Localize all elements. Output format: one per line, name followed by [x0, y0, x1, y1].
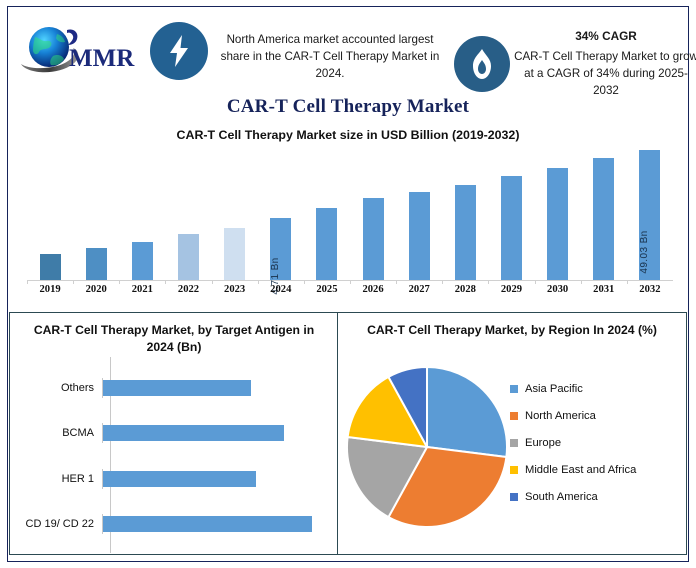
- market-size-bar-slot: [350, 148, 396, 280]
- region-legend-label: Asia Pacific: [525, 383, 583, 395]
- cagr-description: CAR-T Cell Therapy Market to grow at a C…: [514, 50, 696, 97]
- region-pie-chart: [344, 361, 510, 533]
- target-antigen-bar: [103, 516, 312, 532]
- region-legend-item: South America: [510, 483, 684, 510]
- region-legend: Asia PacificNorth AmericaEuropeMiddle Ea…: [510, 375, 684, 510]
- market-size-x-tick: 2027: [396, 284, 442, 295]
- region-legend-item: Asia Pacific: [510, 375, 684, 402]
- market-size-bar-slot: [581, 148, 627, 280]
- market-size-bar: [409, 192, 430, 280]
- target-antigen-panel: CAR-T Cell Therapy Market, by Target Ant…: [9, 312, 339, 555]
- market-size-x-tick: 2025: [304, 284, 350, 295]
- market-size-bar: [132, 242, 153, 280]
- region-legend-label: Middle East and Africa: [525, 464, 636, 476]
- market-size-bar-slot: [165, 148, 211, 280]
- target-antigen-category-label: Others: [10, 382, 102, 394]
- target-antigen-track: [102, 469, 338, 489]
- market-size-bar-chart: CAR-T Cell Therapy Market size in USD Bi…: [9, 126, 687, 306]
- market-size-bar-slot: [442, 148, 488, 280]
- market-size-bar: [178, 234, 199, 280]
- target-antigen-row: Others: [10, 378, 338, 398]
- market-size-bar-slot: [396, 148, 442, 280]
- market-size-bar-slot: 4.71 Bn: [258, 148, 304, 280]
- target-antigen-row: BCMA: [10, 423, 338, 443]
- target-antigen-category-label: BCMA: [10, 427, 102, 439]
- market-size-bar-slot: 49.03 Bn: [627, 148, 673, 280]
- market-size-bar-slot: [212, 148, 258, 280]
- market-size-plot-area: 4.71 Bn49.03 Bn: [27, 148, 673, 281]
- region-legend-swatch: [510, 412, 518, 420]
- region-legend-label: North America: [525, 410, 596, 422]
- lightning-bolt-badge: [150, 22, 208, 80]
- target-antigen-category-label: CD 19/ CD 22: [10, 518, 102, 530]
- region-legend-swatch: [510, 493, 518, 501]
- logo-text: MMR: [69, 45, 135, 72]
- market-size-bar: [86, 248, 107, 280]
- market-size-x-tick: 2032: [627, 284, 673, 295]
- market-size-bar: 4.71 Bn: [270, 218, 291, 280]
- market-size-chart-title: CAR-T Cell Therapy Market size in USD Bi…: [9, 128, 687, 142]
- region-panel: CAR-T Cell Therapy Market, by Region In …: [337, 312, 687, 555]
- target-antigen-track: [102, 378, 338, 398]
- market-size-bar: [455, 185, 476, 280]
- market-size-bar-value-label: 49.03 Bn: [639, 230, 650, 273]
- market-size-x-tick: 2023: [212, 284, 258, 295]
- region-legend-item: North America: [510, 402, 684, 429]
- market-size-bar-slot: [119, 148, 165, 280]
- market-size-x-tick: 2030: [535, 284, 581, 295]
- region-pie-slice: [427, 367, 507, 457]
- region-legend-item: Europe: [510, 429, 684, 456]
- market-size-bar-slot: [73, 148, 119, 280]
- target-antigen-chart-title: CAR-T Cell Therapy Market, by Target Ant…: [20, 322, 328, 356]
- market-size-bar: [547, 168, 568, 280]
- market-size-x-tick: 2024: [258, 284, 304, 295]
- market-size-x-tick: 2020: [73, 284, 119, 295]
- market-size-x-tick: 2028: [442, 284, 488, 295]
- mmr-logo: MMR: [17, 20, 151, 82]
- target-antigen-track: [102, 423, 338, 443]
- target-antigen-bar: [103, 471, 256, 487]
- target-antigen-row: CD 19/ CD 22: [10, 514, 338, 534]
- market-size-bar-slot: [535, 148, 581, 280]
- target-antigen-bars: OthersBCMAHER 1CD 19/ CD 22: [10, 365, 338, 547]
- page-title: CAR-T Cell Therapy Market: [9, 96, 687, 118]
- market-size-bar-slot: [304, 148, 350, 280]
- market-size-bar: [363, 198, 384, 280]
- target-antigen-bar: [103, 425, 284, 441]
- market-size-bar: 49.03 Bn: [639, 150, 660, 280]
- market-size-bar: [224, 228, 245, 280]
- market-size-x-tick: 2022: [165, 284, 211, 295]
- lightning-bolt-icon: [165, 34, 193, 68]
- market-size-bar: [593, 158, 614, 280]
- flame-icon: [469, 48, 495, 80]
- region-legend-label: South America: [525, 491, 598, 503]
- market-size-bar: [501, 176, 522, 280]
- target-antigen-category-label: HER 1: [10, 473, 102, 485]
- globe-icon: MMR: [17, 20, 151, 82]
- market-size-x-axis: 2019202020212022202320242025202620272028…: [27, 284, 673, 295]
- target-antigen-bar: [103, 380, 251, 396]
- region-legend-swatch: [510, 466, 518, 474]
- market-size-bar: [316, 208, 337, 280]
- market-size-bar-slot: [488, 148, 534, 280]
- header: MMR North America market accounted large…: [9, 8, 687, 130]
- target-antigen-row: HER 1: [10, 469, 338, 489]
- market-size-bar-slot: [27, 148, 73, 280]
- region-pie-svg: [344, 361, 510, 533]
- market-size-x-tick: 2026: [350, 284, 396, 295]
- region-legend-swatch: [510, 439, 518, 447]
- region-legend-item: Middle East and Africa: [510, 456, 684, 483]
- cagr-heading: 34% CAGR: [514, 28, 696, 45]
- market-size-x-tick: 2021: [119, 284, 165, 295]
- market-size-x-tick: 2019: [27, 284, 73, 295]
- region-legend-swatch: [510, 385, 518, 393]
- flame-badge: [454, 36, 510, 92]
- header-blurb-left: North America market accounted largest s…: [212, 31, 448, 82]
- market-size-bar: [40, 254, 61, 280]
- region-chart-title: CAR-T Cell Therapy Market, by Region In …: [348, 322, 676, 339]
- region-legend-label: Europe: [525, 437, 561, 449]
- header-blurb-right: 34% CAGR CAR-T Cell Therapy Market to gr…: [514, 28, 696, 99]
- infographic-root: MMR North America market accounted large…: [0, 0, 696, 568]
- market-size-x-tick: 2029: [488, 284, 534, 295]
- target-antigen-track: [102, 514, 338, 534]
- market-size-x-tick: 2031: [581, 284, 627, 295]
